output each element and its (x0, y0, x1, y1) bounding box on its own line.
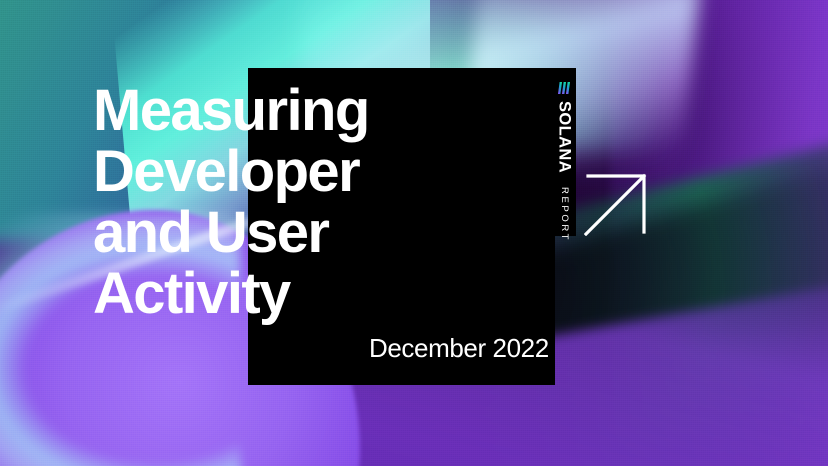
publication-date: December 2022 (369, 333, 549, 363)
badge-kind-label: REPORT (559, 187, 569, 242)
solana-logo-icon (557, 82, 572, 94)
solana-wordmark: SOLANA (556, 101, 573, 173)
report-cover: Measuring Developer and User Activity De… (0, 0, 828, 466)
arrow-up-right-icon (584, 172, 648, 236)
solana-report-badge: SOLANA REPORT (549, 82, 579, 232)
page-title: Measuring Developer and User Activity (93, 80, 523, 324)
